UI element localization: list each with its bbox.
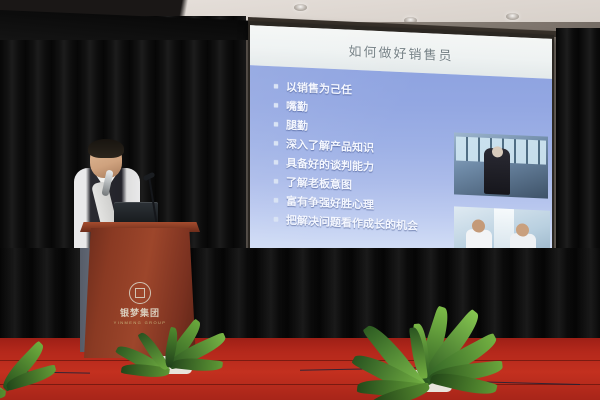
bullet-square-icon bbox=[274, 160, 278, 164]
control-room-photo bbox=[454, 132, 548, 198]
floor-seam bbox=[0, 360, 600, 361]
company-name-cn: 银梦集团 bbox=[110, 306, 170, 319]
laptop-on-podium bbox=[114, 202, 158, 224]
speaker-hair bbox=[88, 139, 124, 158]
photo-person-head bbox=[516, 223, 529, 237]
company-name-en: YINMENG GROUP bbox=[110, 320, 170, 325]
bullet-text: 深入了解产品知识 bbox=[286, 135, 374, 155]
bullet-square-icon bbox=[274, 141, 278, 145]
bullet-text: 以销售为己任 bbox=[286, 78, 352, 97]
photo-person-head bbox=[472, 219, 485, 233]
slide-bullet-list: 以销售为己任 嘴勤 腿勤 深入了解产品知识 具备好的谈判能力 了解老板意图 富有… bbox=[274, 76, 418, 235]
bullet-text: 具备好的谈判能力 bbox=[286, 154, 374, 174]
bullet-square-icon bbox=[274, 103, 278, 107]
floor-seam bbox=[0, 384, 600, 385]
slide-title: 如何做好销售员 bbox=[348, 40, 453, 64]
bullet-text: 腿勤 bbox=[286, 116, 308, 133]
presentation-photo: 如何做好销售员 以销售为己任 嘴勤 腿勤 深入了解产品知识 具备好的谈判能力 了… bbox=[0, 0, 600, 400]
company-emblem-icon bbox=[129, 282, 151, 304]
bullet-square-icon bbox=[274, 217, 278, 221]
bullet-text: 把解决问题看作成长的机会 bbox=[286, 211, 418, 233]
bullet-text: 富有争强好胜心理 bbox=[286, 192, 374, 212]
bullet-square-icon bbox=[274, 198, 278, 202]
bullet-square-icon bbox=[274, 179, 278, 183]
slide-surface: 如何做好销售员 以销售为己任 嘴勤 腿勤 深入了解产品知识 具备好的谈判能力 了… bbox=[250, 25, 552, 280]
podium-logo: 银梦集团 YINMENG GROUP bbox=[110, 282, 170, 325]
photo-person-head bbox=[492, 146, 503, 157]
bullet-square-icon bbox=[274, 84, 278, 88]
bullet-text: 了解老板意图 bbox=[286, 173, 352, 192]
downlight-icon bbox=[294, 4, 307, 11]
bullet-square-icon bbox=[274, 122, 278, 126]
downlight-icon bbox=[506, 13, 519, 20]
bullet-text: 嘴勤 bbox=[286, 97, 308, 114]
